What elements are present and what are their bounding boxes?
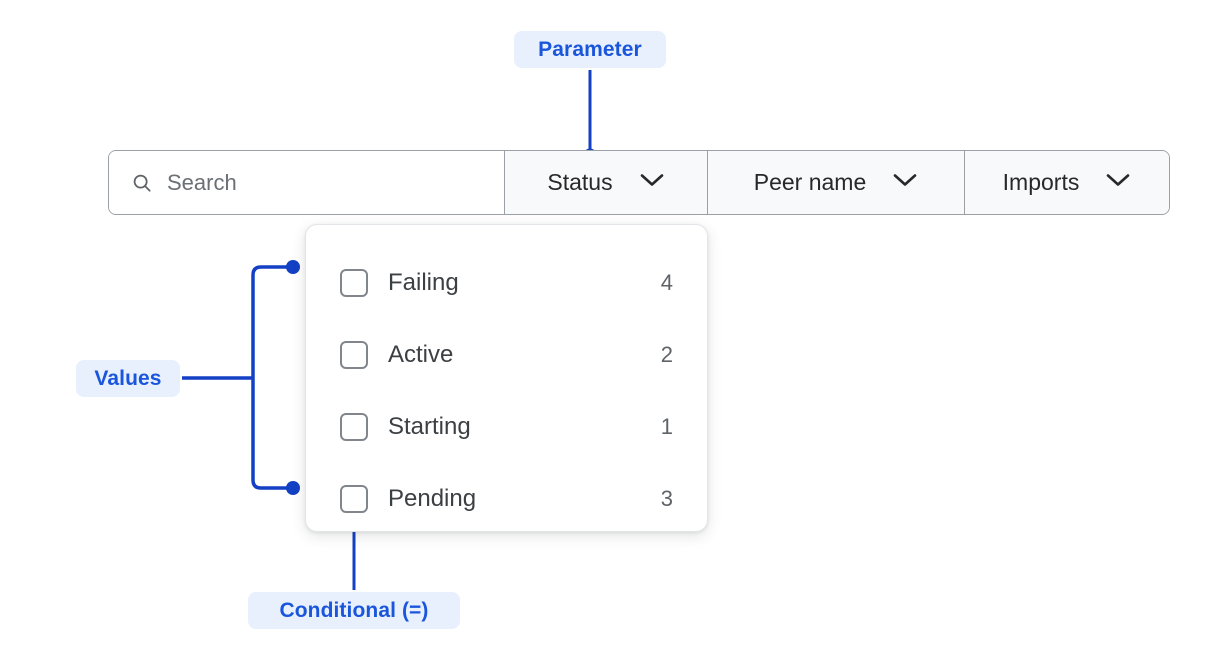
- annotation-badge-conditional: Conditional (=): [248, 592, 460, 629]
- status-option-pending[interactable]: Pending 3: [306, 463, 707, 535]
- status-option-label: Starting: [388, 413, 661, 441]
- status-option-label: Failing: [388, 269, 661, 297]
- annotation-badge-conditional-label: Conditional (=): [279, 599, 428, 623]
- status-option-starting[interactable]: Starting 1: [306, 391, 707, 463]
- filter-dropdown-peer-name[interactable]: Peer name: [708, 151, 965, 214]
- search-icon: [131, 172, 153, 194]
- annotation-badge-parameter: Parameter: [514, 31, 666, 68]
- annotation-badge-parameter-label: Parameter: [538, 38, 642, 62]
- checkbox-icon[interactable]: [340, 485, 368, 513]
- filter-toolbar: Status Peer name Imports: [108, 150, 1170, 215]
- checkbox-icon[interactable]: [340, 341, 368, 369]
- status-option-active[interactable]: Active 2: [306, 319, 707, 391]
- filter-dropdown-imports-label: Imports: [1003, 169, 1080, 196]
- annotation-badge-values: Values: [76, 360, 180, 397]
- filter-dropdown-status[interactable]: Status: [505, 151, 708, 214]
- filter-dropdown-status-label: Status: [547, 169, 612, 196]
- chevron-down-icon: [892, 172, 918, 193]
- status-option-label: Active: [388, 341, 661, 369]
- status-option-failing[interactable]: Failing 4: [306, 247, 707, 319]
- checkbox-icon[interactable]: [340, 269, 368, 297]
- filter-dropdown-imports[interactable]: Imports: [965, 151, 1169, 214]
- status-option-count: 3: [661, 486, 673, 512]
- chevron-down-icon: [1105, 172, 1131, 193]
- values-connector-dot-top: [286, 260, 300, 274]
- search-input[interactable]: [167, 170, 477, 196]
- status-option-label: Pending: [388, 485, 661, 513]
- values-connector-dot-bottom: [286, 481, 300, 495]
- status-option-count: 2: [661, 342, 673, 368]
- status-dropdown-panel: Failing 4 Active 2 Starting 1 Pending 3: [305, 224, 708, 532]
- filter-dropdown-peer-name-label: Peer name: [754, 169, 867, 196]
- annotation-badge-values-label: Values: [94, 367, 161, 391]
- values-connector-line: [182, 267, 288, 488]
- status-option-count: 4: [661, 270, 673, 296]
- search-cell[interactable]: [109, 151, 505, 214]
- checkbox-icon[interactable]: [340, 413, 368, 441]
- chevron-down-icon: [639, 172, 665, 193]
- status-option-count: 1: [661, 414, 673, 440]
